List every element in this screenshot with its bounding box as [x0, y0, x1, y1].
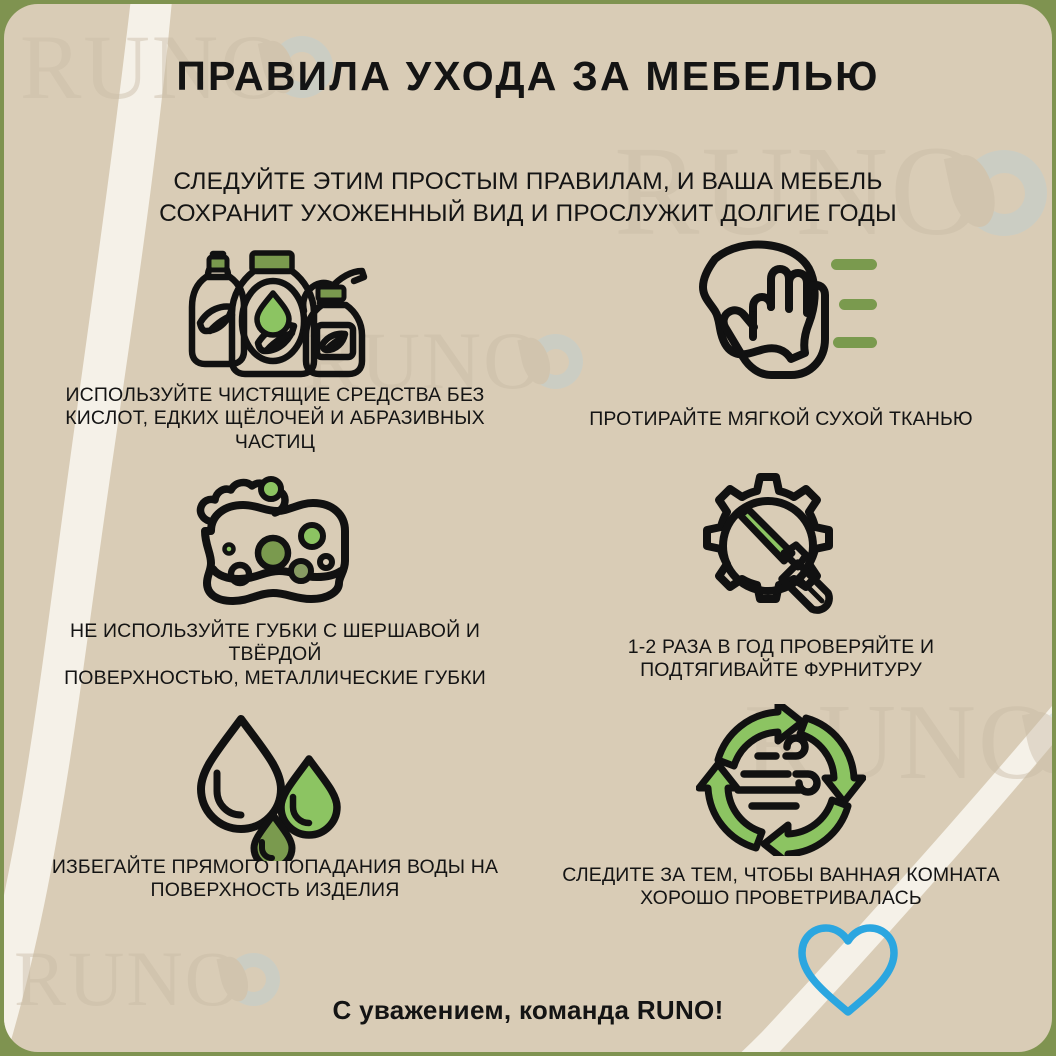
sponge-icon: [175, 473, 375, 623]
motion-lines-green: [831, 259, 877, 348]
sponge-hole: [301, 525, 323, 547]
bubble-green: [261, 479, 281, 499]
page-title: ПРАВИЛА УХОДА ЗА МЕБЕЛЬЮ: [4, 53, 1052, 100]
poster-root: RUNO RUNO RUNO RUNO: [0, 0, 1056, 1056]
tip-card-no-rough-sponges: НЕ ИСПОЛЬЗУЙТЕ ГУБКИ С ШЕРШАВОЙ И ТВЁРДО…: [22, 462, 528, 698]
tip-icon-wrap: [681, 232, 881, 384]
tip-caption: ИЗБЕГАЙТЕ ПРЯМОГО ПОПАДАНИЯ ВОДЫ НА ПОВЕ…: [52, 856, 498, 903]
tip-card-avoid-direct-water: ИЗБЕГАЙТЕ ПРЯМОГО ПОПАДАНИЯ ВОДЫ НА ПОВЕ…: [22, 698, 528, 934]
footer: С уважением, команда RUNO!: [4, 995, 1052, 1026]
sponge-hole: [291, 561, 311, 581]
air-circulation-icon: [696, 704, 866, 856]
tip-icon-wrap: [175, 472, 375, 624]
tip-card-ventilate-bathroom: СЛЕДИТЕ ЗА ТЕМ, ЧТОБЫ ВАННАЯ КОМНАТА ХОР…: [528, 698, 1034, 934]
tip-icon-wrap: [185, 710, 365, 862]
tip-caption: ПРОТИРАЙТЕ МЯГКОЙ СУХОЙ ТКАНЬЮ: [589, 408, 973, 431]
tip-card-wipe-soft-cloth: ПРОТИРАЙТЕ МЯГКОЙ СУХОЙ ТКАНЬЮ: [528, 226, 1034, 462]
water-drop-large-shine: [217, 773, 241, 815]
sponge-hole: [320, 556, 332, 568]
circular-arrows: [699, 704, 863, 856]
tip-icon-wrap: [686, 470, 876, 622]
page-subtitle: СЛЕДУЙТЕ ЭТИМ ПРОСТЫМ ПРАВИЛАМ, И ВАША М…: [4, 166, 1052, 231]
droplet-green: [257, 293, 289, 335]
tip-card-cleaning-products: ИСПОЛЬЗУЙТЕ ЧИСТЯЩИЕ СРЕДСТВА БЕЗ КИСЛОТ…: [22, 226, 528, 462]
hand-wiping-cloth-icon: [681, 233, 881, 383]
tip-icon-wrap: [170, 230, 380, 382]
tip-caption: ИСПОЛЬЗУЙТЕ ЧИСТЯЩИЕ СРЕДСТВА БЕЗ КИСЛОТ…: [65, 384, 485, 454]
water-drops-icon: [185, 711, 365, 861]
gear-screwdriver-icon: [686, 471, 876, 621]
poster-card: RUNO RUNO RUNO RUNO: [4, 4, 1052, 1052]
cleaning-bottles-icon: [170, 231, 380, 381]
wind-lines: [738, 738, 817, 806]
tip-card-tighten-fittings: 1-2 РАЗА В ГОД ПРОВЕРЯЙТЕ И ПОДТЯГИВАЙТЕ…: [528, 462, 1034, 698]
heart-icon: [792, 920, 904, 1020]
tip-caption: 1-2 РАЗА В ГОД ПРОВЕРЯЙТЕ И ПОДТЯГИВАЙТЕ…: [628, 636, 934, 683]
sponge-hole: [258, 538, 288, 568]
tip-caption: СЛЕДИТЕ ЗА ТЕМ, ЧТОБЫ ВАННАЯ КОМНАТА ХОР…: [562, 864, 1000, 911]
sponge-hole: [231, 565, 249, 583]
sponge-hole: [225, 545, 234, 554]
tips-grid: ИСПОЛЬЗУЙТЕ ЧИСТЯЩИЕ СРЕДСТВА БЕЗ КИСЛОТ…: [22, 226, 1034, 934]
tip-icon-wrap: [696, 704, 866, 856]
footer-signature: С уважением, команда RUNO!: [332, 995, 723, 1025]
tip-caption: НЕ ИСПОЛЬЗУЙТЕ ГУБКИ С ШЕРШАВОЙ И ТВЁРДО…: [40, 620, 510, 690]
